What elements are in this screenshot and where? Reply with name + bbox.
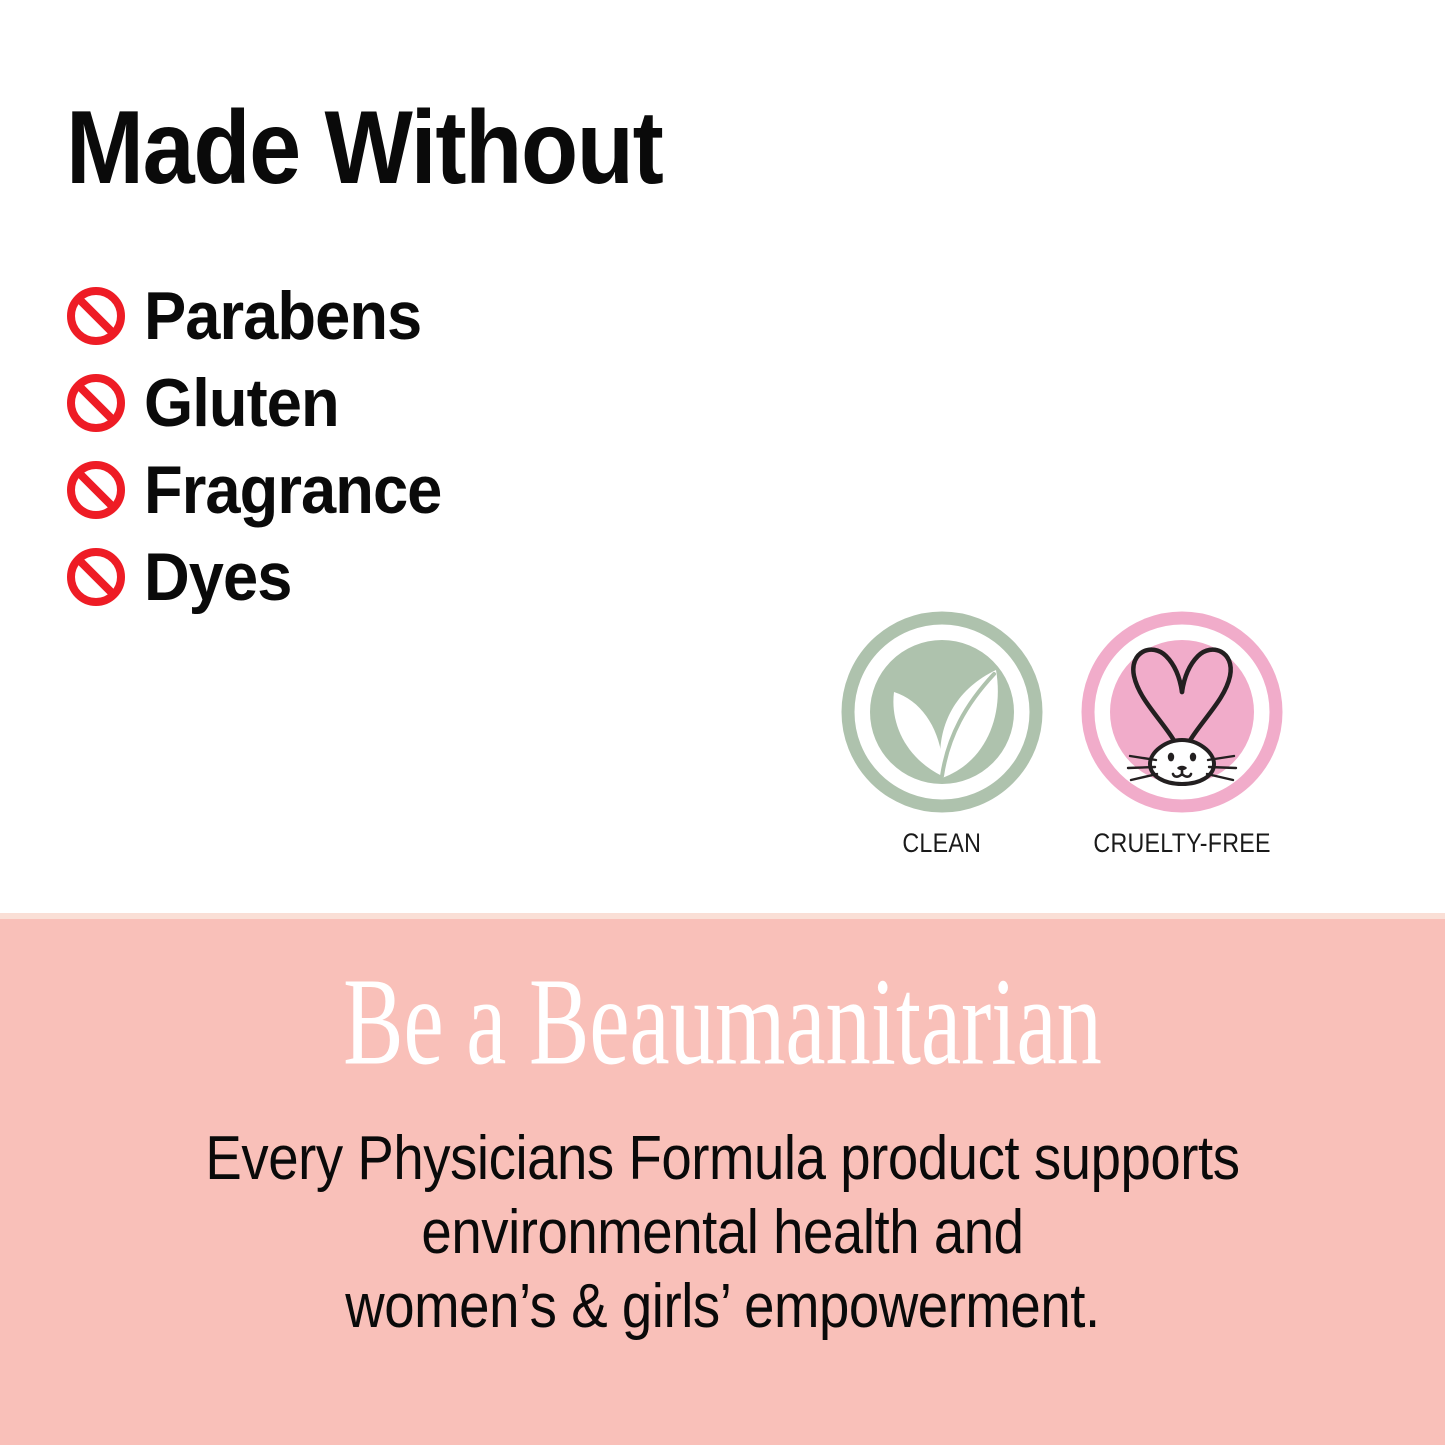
mission-statement: Every Physicians Formula product support… — [0, 1122, 1445, 1344]
panel-divider — [0, 913, 1445, 919]
made-without-panel: Made Without Parabens G — [0, 0, 1445, 913]
list-item: Parabens — [66, 272, 826, 359]
badge-clean: CLEAN — [838, 608, 1046, 859]
mission-line: environmental health and — [87, 1196, 1359, 1270]
list-item: Dyes — [66, 533, 826, 620]
prohibition-icon — [66, 373, 126, 433]
product-claims-graphic: Made Without Parabens G — [0, 0, 1445, 1445]
list-item: Gluten — [66, 359, 826, 446]
prohibition-icon — [66, 547, 126, 607]
mission-line: Every Physicians Formula product support… — [87, 1122, 1359, 1196]
list-item: Fragrance — [66, 446, 826, 533]
bunny-heart-badge-icon — [1078, 608, 1286, 816]
exclusion-label: Gluten — [144, 369, 339, 437]
beaumanitarian-headline: Be a Beaumanitarian — [159, 960, 1286, 1085]
exclusion-label: Fragrance — [144, 456, 441, 524]
leaf-badge-icon — [838, 608, 1046, 816]
badge-label-cruelty-free: CRUELTY-FREE — [1093, 828, 1270, 859]
exclusion-list: Parabens Gluten Fragra — [66, 272, 826, 620]
certification-badges: CLEAN — [838, 608, 1286, 859]
badge-cruelty-free: CRUELTY-FREE — [1078, 608, 1286, 859]
prohibition-icon — [66, 286, 126, 346]
prohibition-icon — [66, 460, 126, 520]
page-title: Made Without — [66, 96, 662, 200]
exclusion-label: Dyes — [144, 543, 291, 611]
mission-line: women’s & girls’ empowerment. — [87, 1270, 1359, 1344]
badge-label-clean: CLEAN — [903, 828, 982, 859]
exclusion-label: Parabens — [144, 282, 421, 350]
